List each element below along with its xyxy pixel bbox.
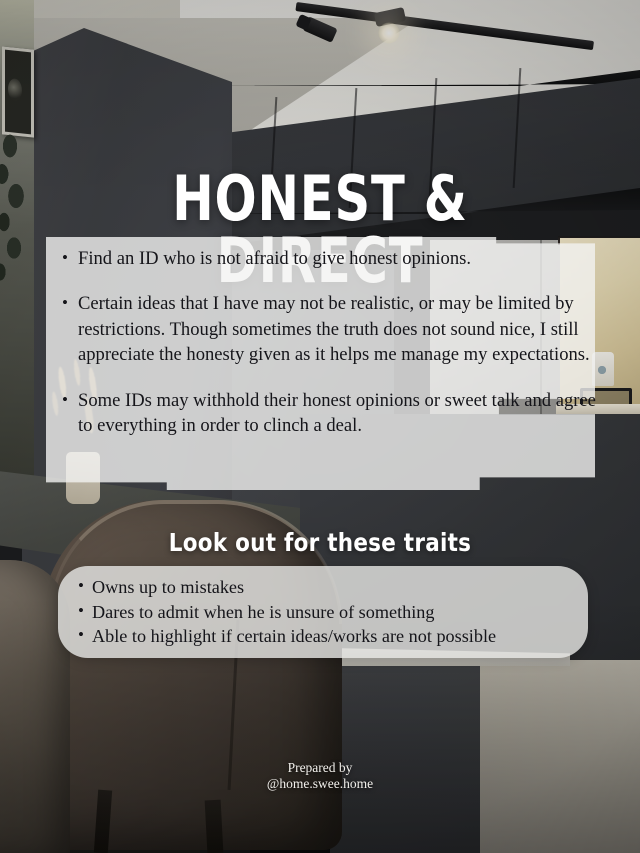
main-points-block: Find an ID who is not afraid to give hon… <box>58 246 598 438</box>
list-item: Some IDs may withhold their honest opini… <box>76 388 598 439</box>
list-item: Dares to admit when he is unsure of some… <box>92 600 592 625</box>
credit-handle: @home.swee.home <box>0 776 640 792</box>
list-item: Able to highlight if certain ideas/works… <box>92 624 592 649</box>
credit-block: Prepared by @home.swee.home <box>0 760 640 792</box>
section-subtitle: Look out for these traits <box>45 528 595 558</box>
poster-canvas: HONEST & DIRECT Find an ID who is not af… <box>0 0 640 853</box>
list-item: Certain ideas that I have may not be rea… <box>76 291 598 367</box>
credit-prepared-by: Prepared by <box>288 760 353 775</box>
list-item: Owns up to mistakes <box>92 575 592 600</box>
traits-list-block: Owns up to mistakes Dares to admit when … <box>92 575 592 649</box>
list-item: Find an ID who is not afraid to give hon… <box>76 246 598 271</box>
poster-content: HONEST & DIRECT Find an ID who is not af… <box>0 0 640 853</box>
